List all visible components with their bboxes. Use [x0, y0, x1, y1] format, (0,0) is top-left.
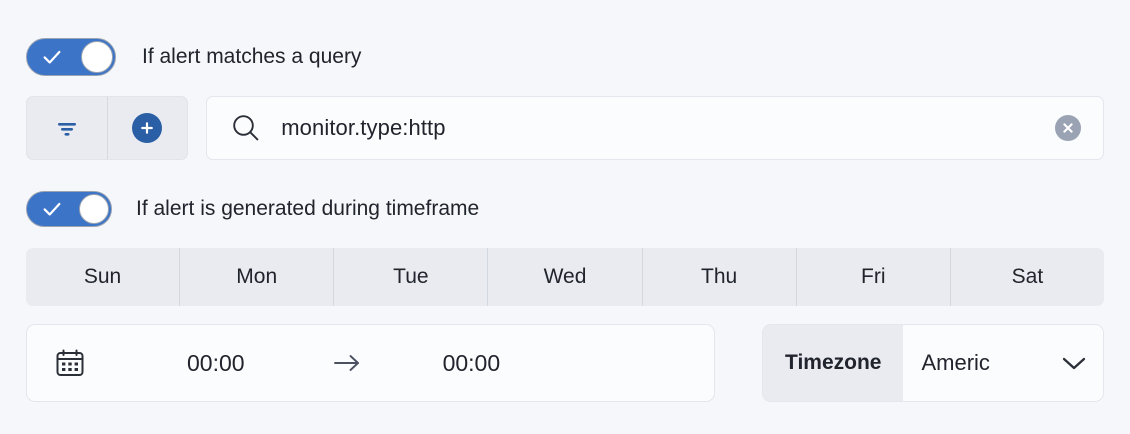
alert-conditions-panel: If alert matches a query	[0, 0, 1130, 434]
query-search-value: monitor.type:http	[281, 115, 445, 141]
day-button-thu[interactable]: Thu	[642, 248, 796, 306]
add-query-button[interactable]	[107, 97, 188, 159]
query-condition-row: If alert matches a query	[26, 38, 361, 76]
day-selector: Sun Mon Tue Wed Thu Fri Sat	[26, 248, 1104, 306]
query-condition-toggle[interactable]	[26, 38, 116, 76]
day-button-tue[interactable]: Tue	[333, 248, 487, 306]
query-input-row: monitor.type:http	[26, 96, 1104, 160]
check-icon	[41, 198, 63, 220]
day-button-fri[interactable]: Fri	[796, 248, 950, 306]
check-icon	[41, 46, 63, 68]
day-button-sun[interactable]: Sun	[26, 248, 179, 306]
query-search-box[interactable]: monitor.type:http	[206, 96, 1104, 160]
chevron-down-icon	[1059, 353, 1089, 373]
arrow-right-glyph	[331, 351, 363, 375]
query-filter-button-group	[26, 96, 188, 160]
toggle-knob	[79, 194, 109, 224]
end-time-value[interactable]: 00:00	[443, 350, 501, 377]
day-button-sat[interactable]: Sat	[950, 248, 1104, 306]
toggle-knob	[81, 41, 113, 73]
query-condition-label: If alert matches a query	[142, 45, 361, 69]
timeframe-condition-row: If alert is generated during timeframe	[26, 191, 479, 227]
timeframe-condition-toggle[interactable]	[26, 191, 112, 227]
calendar-glyph	[53, 346, 87, 380]
filter-icon	[54, 115, 80, 141]
time-range-picker[interactable]: 00:00 00:00	[26, 324, 715, 402]
arrow-right-icon	[331, 351, 363, 375]
close-icon	[1061, 121, 1075, 135]
search-icon	[229, 111, 263, 145]
timezone-field: Timezone Americ	[762, 324, 1104, 402]
clear-query-button[interactable]	[1055, 115, 1081, 141]
day-button-mon[interactable]: Mon	[179, 248, 333, 306]
plus-icon	[132, 113, 162, 143]
search-glyph	[229, 111, 263, 145]
timezone-select[interactable]: Americ	[903, 325, 1103, 401]
start-time-value[interactable]: 00:00	[187, 350, 245, 377]
day-button-wed[interactable]: Wed	[487, 248, 641, 306]
timezone-value: Americ	[921, 350, 1047, 376]
plus-glyph	[138, 119, 156, 137]
chevron-down-glyph	[1059, 353, 1089, 373]
filter-button[interactable]	[27, 97, 107, 159]
calendar-icon	[53, 346, 87, 380]
timeframe-condition-label: If alert is generated during timeframe	[136, 197, 479, 221]
timezone-label: Timezone	[763, 325, 903, 401]
